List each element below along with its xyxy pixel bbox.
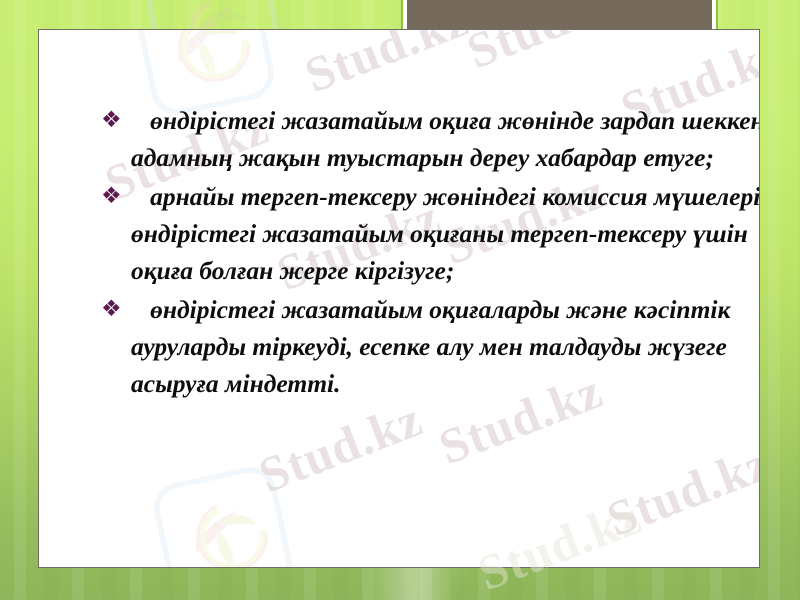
- list-item-text: өндірістегі жазатайым оқиға жөнінде зард…: [131, 106, 760, 172]
- diamond-bullet-icon: ❖: [101, 181, 125, 211]
- diamond-bullet-icon: ❖: [101, 294, 125, 324]
- watermark-text: Stud.kz: [251, 389, 430, 504]
- slide-canvas: Stud.kz Stud.kz Stud.kz Stud.kz Stud.kz …: [0, 0, 800, 600]
- list-item[interactable]: ❖ өндірістегі жазатайым оқиға жөнінде за…: [97, 102, 760, 176]
- diamond-bullet-icon: ❖: [101, 105, 125, 135]
- bullet-list: ❖ өндірістегі жазатайым оқиға жөнінде за…: [97, 102, 760, 404]
- content-panel: Stud.kz Stud.kz Stud.kz Stud.kz Stud.kz …: [38, 29, 760, 568]
- watermark-text: Stud.kz: [599, 433, 759, 548]
- watermark-text: Stud.kz: [459, 30, 638, 80]
- hummingbird-logo-icon: [145, 458, 302, 567]
- list-item[interactable]: ❖ арнайы тергеп-тексеру жөніндегі комисс…: [97, 178, 760, 289]
- list-item-text: арнайы тергеп-тексеру жөніндегі комиссия…: [131, 182, 760, 285]
- list-item[interactable]: ❖ өндірістегі жазатайым оқиғаларды және …: [97, 291, 760, 402]
- watermark-text: Stud.kz: [297, 30, 476, 104]
- list-item-text: өндірістегі жазатайым оқиғаларды және кә…: [131, 295, 730, 398]
